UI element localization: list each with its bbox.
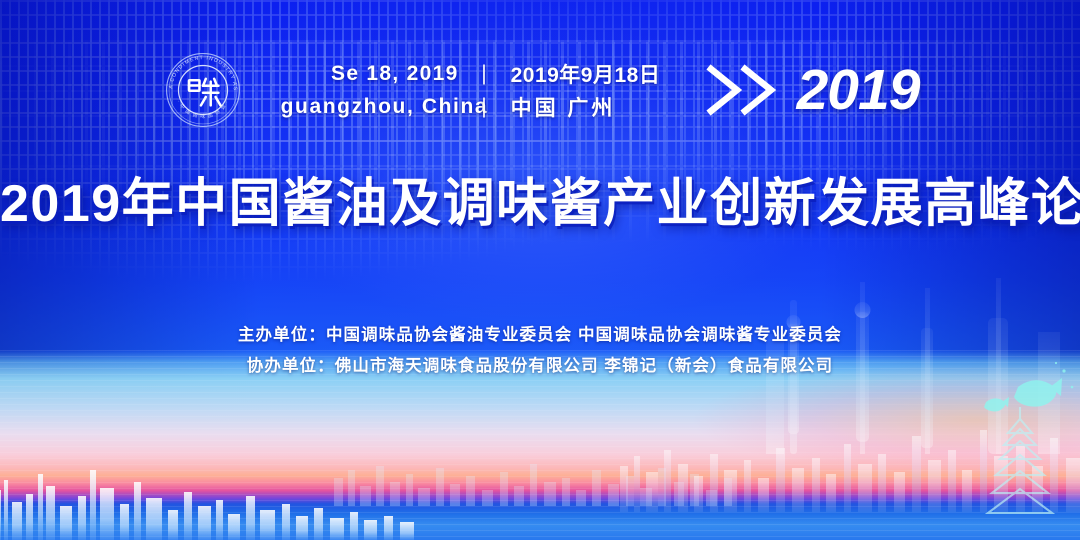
location-separator: | xyxy=(459,95,511,119)
date-row: Se 18, 2019 | 2019年9月18日 xyxy=(281,59,679,89)
location-chinese: 中国 广州 xyxy=(511,92,679,122)
co-host-organizer-line: 协办单位：佛山市海天调味食品股份有限公司 李锦记（新会）食品有限公司 xyxy=(0,351,1080,382)
date-chinese: 2019年9月18日 xyxy=(511,59,679,89)
organizer-block: 主办单位：中国调味品协会酱油专业委员会 中国调味品协会调味酱专业委员会 协办单位… xyxy=(0,320,1080,382)
conference-banner: CHINA CONDIMENT INDUSTRY ASSOC · 中 国 调 味… xyxy=(0,0,1080,540)
city-skyline-left xyxy=(0,460,420,540)
association-emblem-icon: CHINA CONDIMENT INDUSTRY ASSOC · 中 国 调 味… xyxy=(161,48,245,132)
location-english: guangzhou, China xyxy=(281,95,459,119)
banner-header-row: CHINA CONDIMENT INDUSTRY ASSOC · 中 国 调 味… xyxy=(0,47,1080,133)
date-separator: | xyxy=(459,62,511,86)
page-title: 2019年中国酱油及调味酱产业创新发展高峰论坛 xyxy=(0,176,1080,233)
double-chevron-right-icon xyxy=(705,63,781,117)
host-organizer-line: 主办单位：中国调味品协会酱油专业委员会 中国调味品协会调味酱专业委员会 xyxy=(0,320,1080,351)
location-row: guangzhou, China | 中国 广州 xyxy=(281,92,679,122)
event-date-location-block: Se 18, 2019 | 2019年9月18日 guangzhou, Chin… xyxy=(281,59,679,122)
year-badge: 2019 xyxy=(797,62,920,119)
pagoda-tower-silhouette xyxy=(988,407,1052,513)
date-english: Se 18, 2019 xyxy=(281,62,459,86)
